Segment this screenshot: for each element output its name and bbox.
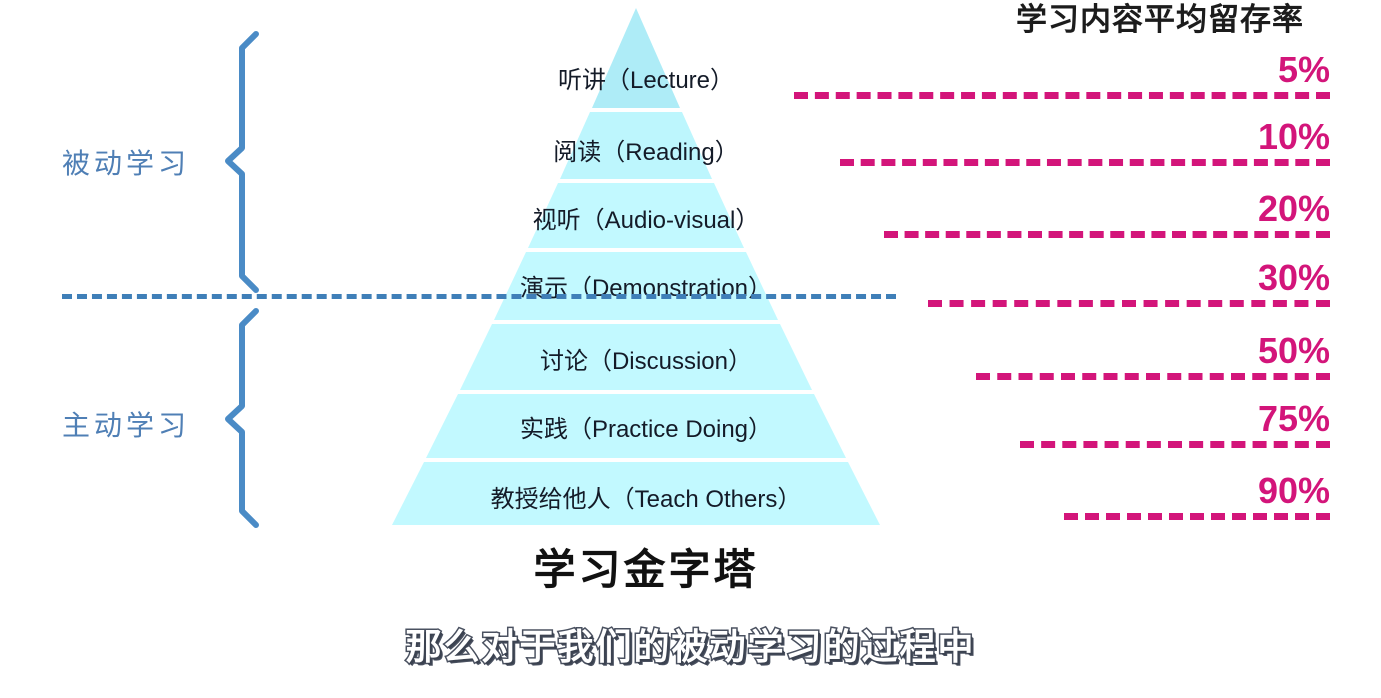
pyramid-level-6-shape [426, 394, 846, 458]
brace-active-icon [228, 311, 256, 525]
pyramid-level-7-shape [392, 462, 880, 525]
retention-value-6: 75% [1258, 401, 1330, 437]
retention-line-4 [928, 300, 1330, 307]
brace-passive-icon [228, 34, 256, 290]
retention-line-3 [884, 231, 1330, 238]
pyramid-shape [330, 4, 962, 526]
passive-active-divider [62, 294, 896, 299]
pyramid-caption-title: 学习金字塔 [330, 536, 962, 597]
group-label-active-learning: 主动学习 [62, 404, 190, 444]
retention-value-2: 10% [1258, 119, 1330, 155]
retention-line-7 [1064, 513, 1330, 520]
pyramid-level-3-shape [528, 183, 744, 248]
video-subtitle-caption: 那么对于我们的被动学习的过程中 [0, 618, 1381, 670]
retention-value-4: 30% [1258, 260, 1330, 296]
retention-value-5: 50% [1258, 333, 1330, 369]
retention-line-2 [840, 159, 1330, 166]
retention-column-title: 学习内容平均留存率 [960, 2, 1360, 38]
retention-line-1 [794, 92, 1330, 99]
pyramid-level-5-shape [460, 324, 812, 390]
retention-value-1: 5% [1278, 52, 1330, 88]
group-label-passive-learning: 被动学习 [62, 142, 190, 182]
pyramid-level-1-shape [592, 8, 680, 108]
retention-value-7: 90% [1258, 473, 1330, 509]
pyramid-level-2-shape [560, 112, 712, 179]
learning-pyramid-diagram: 学习内容平均留存率 听讲（Lecture） 阅读（Reading） 视听（Aud… [0, 0, 1381, 698]
retention-value-3: 20% [1258, 191, 1330, 227]
pyramid-graphic: 听讲（Lecture） 阅读（Reading） 视听（Audio-visual）… [330, 4, 962, 526]
pyramid-level-4-shape [494, 252, 778, 320]
retention-line-5 [976, 373, 1330, 380]
retention-line-6 [1020, 441, 1330, 448]
